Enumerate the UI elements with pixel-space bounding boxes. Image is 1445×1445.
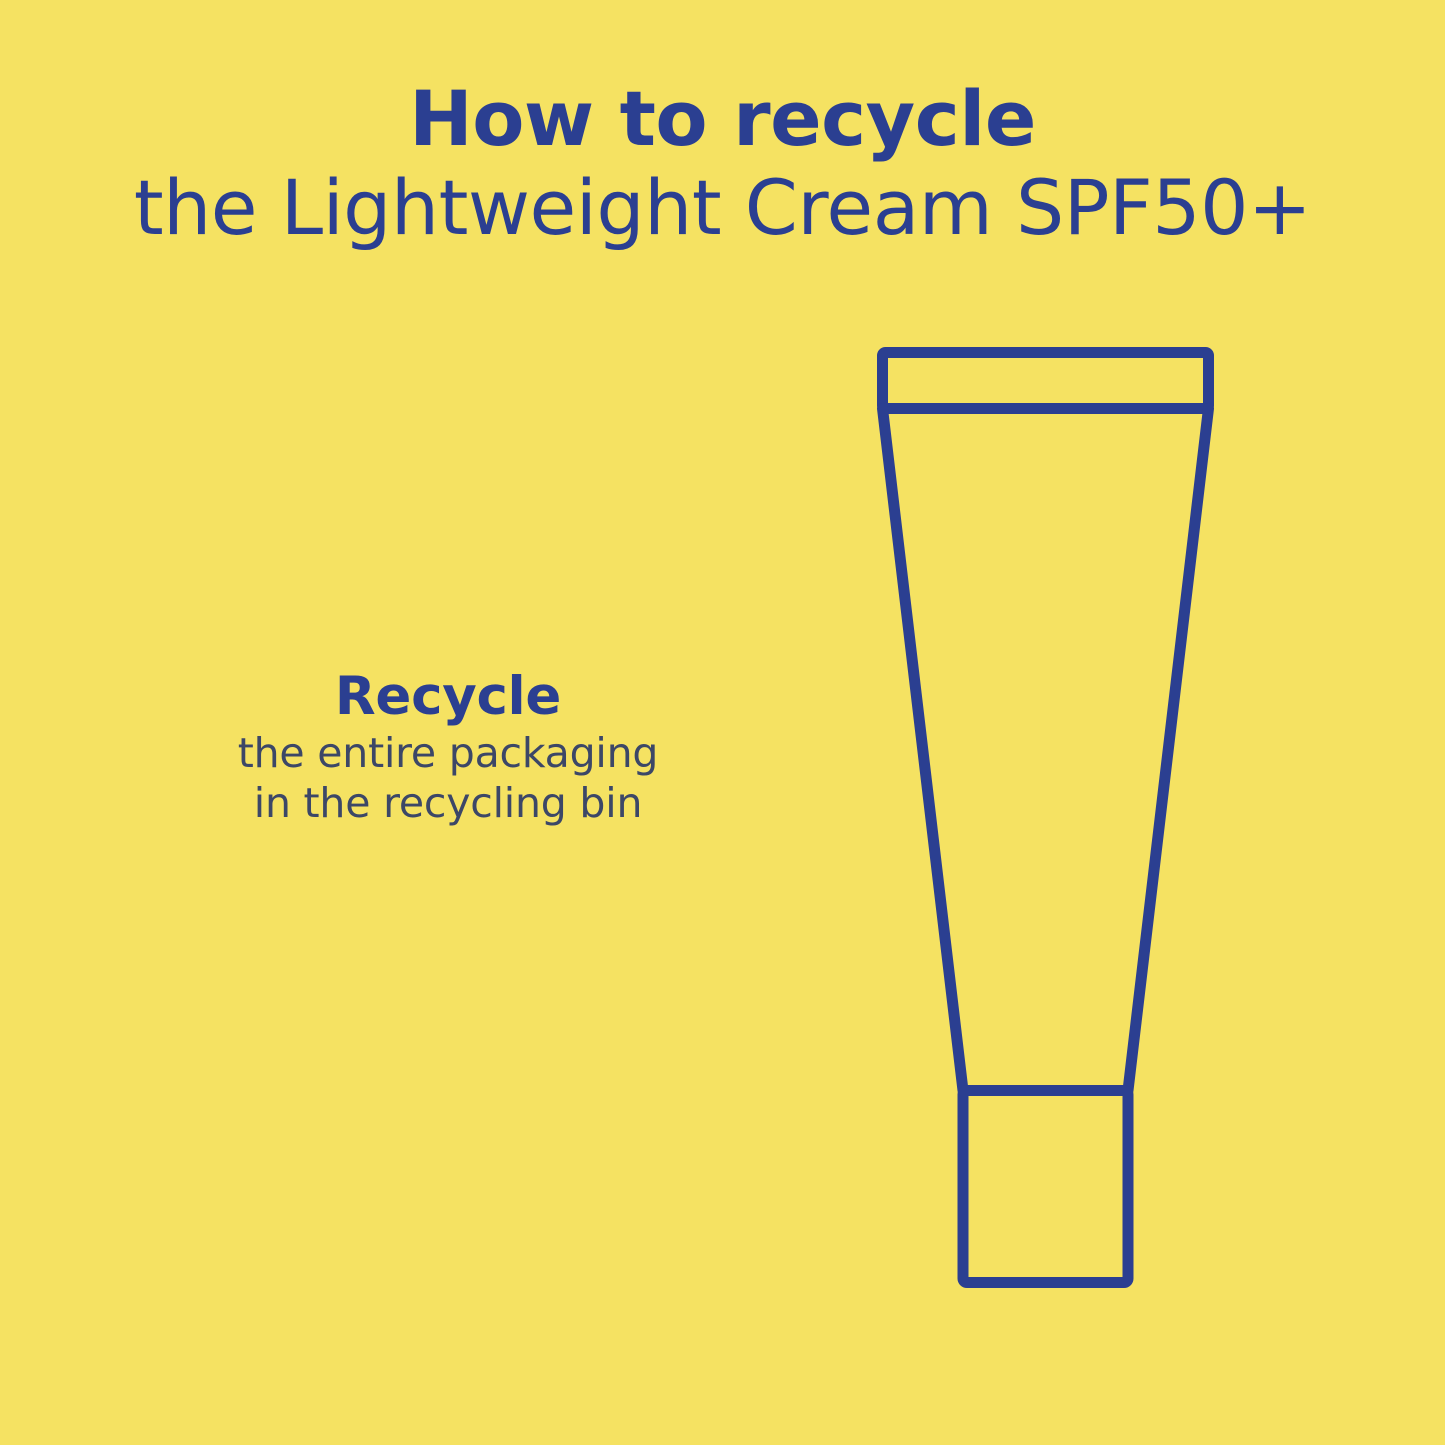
page-title: How to recycle the Lightweight Cream SPF… bbox=[0, 76, 1445, 254]
recycle-instruction-heading: Recycle bbox=[173, 666, 723, 728]
tube-cap bbox=[963, 1091, 1128, 1283]
cream-tube-icon bbox=[840, 320, 1240, 1320]
recycle-instruction: Recycle the entire packaging in the recy… bbox=[173, 666, 723, 828]
page-title-line-1: How to recycle bbox=[0, 76, 1445, 162]
recycle-instruction-line-2: in the recycling bin bbox=[173, 778, 723, 828]
recycle-instruction-line-1: the entire packaging bbox=[173, 728, 723, 778]
cream-tube-illustration bbox=[840, 320, 1240, 1320]
tube-seal-band bbox=[883, 353, 1209, 409]
page-title-line-2: the Lightweight Cream SPF50+ bbox=[0, 162, 1445, 254]
tube-body bbox=[883, 409, 1209, 1091]
recycling-instruction-poster: How to recycle the Lightweight Cream SPF… bbox=[0, 0, 1445, 1445]
